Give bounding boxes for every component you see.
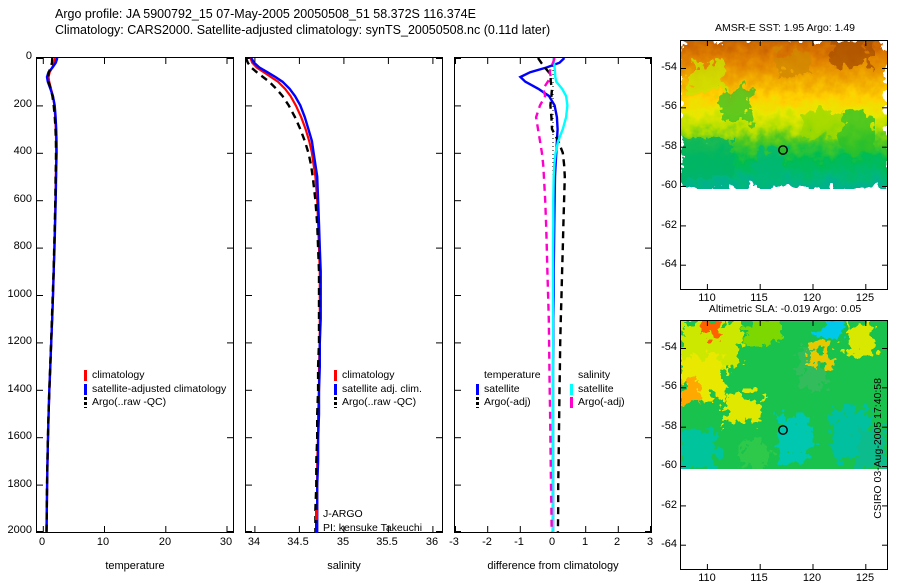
salinity-plot-area bbox=[246, 58, 442, 532]
legend-header-temperature: temperature bbox=[476, 369, 541, 383]
figure-title: Argo profile: JA 5900792_15 07-May-2005 … bbox=[55, 6, 675, 38]
difference-plot-area bbox=[455, 58, 651, 532]
difference-legend-temperature: temperature satellite Argo(-adj) bbox=[476, 369, 541, 410]
temperature-panel bbox=[36, 57, 234, 533]
sst-map-field bbox=[681, 41, 887, 189]
legend-label-climatology: climatology bbox=[92, 369, 145, 383]
legend-swatch-sal-argo bbox=[570, 397, 573, 408]
sst-map-title: AMSR-E SST: 1.95 Argo: 1.49 bbox=[670, 22, 900, 34]
temp-ytick-2000: 2000 bbox=[0, 524, 32, 536]
legend-item-temp-argo: Argo(-adj) bbox=[476, 396, 541, 410]
sla-ytick--54: -54 bbox=[631, 341, 677, 353]
pi-label: PI: kensuke Takeuchi bbox=[323, 522, 422, 536]
legend-label-argo-sal: Argo(..raw -QC) bbox=[342, 396, 416, 410]
salinity-yticks bbox=[246, 59, 442, 532]
salinity-axis-label: salinity bbox=[284, 560, 404, 572]
temp-ytick-0: 0 bbox=[0, 50, 32, 62]
temperature-legend: climatology satellite-adjusted climatolo… bbox=[84, 369, 226, 410]
temp-ytick-1000: 1000 bbox=[0, 288, 32, 300]
sla-xtick-110: 110 bbox=[677, 572, 737, 584]
legend-spacer-sal bbox=[570, 370, 573, 381]
temp-xtick-10: 10 bbox=[73, 536, 133, 548]
legend-swatch-sal-satellite bbox=[570, 384, 573, 395]
temp-ytick-1400: 1400 bbox=[0, 383, 32, 395]
legend-label-temp-satellite: satellite bbox=[484, 383, 520, 397]
temp-ytick-800: 800 bbox=[0, 240, 32, 252]
legend-header-salinity: salinity bbox=[570, 369, 625, 383]
jargo-swatch-blue bbox=[315, 523, 318, 533]
legend-item-sal-satellite: satellite bbox=[570, 383, 625, 397]
sla-map-title: Altimetric SLA: -0.019 Argo: 0.05 bbox=[670, 303, 900, 315]
figure-title-line1: Argo profile: JA 5900792_15 07-May-2005 … bbox=[55, 7, 476, 21]
figure-title-line2: Climatology: CARS2000. Satellite-adjuste… bbox=[55, 23, 550, 37]
sla-xtick-125: 125 bbox=[835, 572, 895, 584]
legend-label-salinity-header: salinity bbox=[578, 369, 610, 383]
jargo-swatch-red bbox=[315, 510, 318, 520]
temperature-plot-area bbox=[37, 58, 233, 532]
sla-ytick--62: -62 bbox=[631, 499, 677, 511]
sst-ytick--62: -62 bbox=[631, 219, 677, 231]
sla-ytick--58: -58 bbox=[631, 420, 677, 432]
temperature-axis-label: temperature bbox=[75, 560, 195, 572]
legend-swatch-temp-argo bbox=[476, 397, 479, 408]
temp-xtick-0: 0 bbox=[12, 536, 72, 548]
legend-label-temp-argo: Argo(-adj) bbox=[484, 396, 531, 410]
legend-label-satellite-adj-sal: satellite adj. clim. bbox=[342, 383, 422, 397]
salinity-panel bbox=[245, 57, 443, 533]
temp-ytick-200: 200 bbox=[0, 98, 32, 110]
legend-label-argo: Argo(..raw -QC) bbox=[92, 396, 166, 410]
sst-map-nodata-region bbox=[681, 189, 887, 289]
temp-ytick-1200: 1200 bbox=[0, 335, 32, 347]
sla-map-plot-area bbox=[681, 321, 887, 569]
legend-item-sal-argo: Argo(-adj) bbox=[570, 396, 625, 410]
legend-label-sal-satellite: satellite bbox=[578, 383, 614, 397]
sst-ytick--60: -60 bbox=[631, 179, 677, 191]
sst-map-plot-area bbox=[681, 41, 887, 289]
legend-swatch-argo bbox=[84, 397, 87, 408]
sla-ytick--56: -56 bbox=[631, 380, 677, 392]
sla-map-panel bbox=[680, 320, 888, 570]
sla-ytick--64: -64 bbox=[631, 538, 677, 550]
temp-ytick-1800: 1800 bbox=[0, 478, 32, 490]
sla-ytick--60: -60 bbox=[631, 459, 677, 471]
salinity-legend: climatology satellite adj. clim. Argo(..… bbox=[334, 369, 422, 410]
legend-swatch-temp-satellite bbox=[476, 384, 479, 395]
sst-map-panel bbox=[680, 40, 888, 290]
legend-swatch-satellite-adjusted bbox=[84, 384, 87, 395]
series-sal-satellite-diff bbox=[553, 58, 567, 532]
salinity-xticks bbox=[255, 58, 433, 532]
jargo-credit: J-ARGO PI: kensuke Takeuchi bbox=[315, 508, 422, 535]
argo-position-marker bbox=[779, 146, 787, 154]
difference-axis-label: difference from climatology bbox=[478, 560, 628, 572]
sla-map-nodata-region bbox=[681, 469, 887, 569]
temp-xtick-20: 20 bbox=[135, 536, 195, 548]
sst-ytick--64: -64 bbox=[631, 258, 677, 270]
legend-item-climatology: climatology bbox=[84, 369, 226, 383]
jargo-label: J-ARGO bbox=[323, 508, 363, 522]
legend-label-climatology-sal: climatology bbox=[342, 369, 395, 383]
temp-ytick-400: 400 bbox=[0, 145, 32, 157]
pi-row: PI: kensuke Takeuchi bbox=[315, 522, 422, 536]
legend-label-sal-argo: Argo(-adj) bbox=[578, 396, 625, 410]
sla-xtick-115: 115 bbox=[729, 572, 789, 584]
legend-swatch-satellite-adj-sal bbox=[334, 384, 337, 395]
jargo-row: J-ARGO bbox=[315, 508, 422, 522]
sst-ytick--58: -58 bbox=[631, 140, 677, 152]
sst-ytick--54: -54 bbox=[631, 61, 677, 73]
temperature-yticks bbox=[37, 59, 233, 532]
legend-label-satellite-adjusted: satellite-adjusted climatology bbox=[92, 383, 226, 397]
argo-profile-figure: Argo profile: JA 5900792_15 07-May-2005 … bbox=[0, 0, 900, 580]
legend-item-satellite-adjusted: satellite-adjusted climatology bbox=[84, 383, 226, 397]
csiro-timestamp: CSIRO 03-Aug-2005 17:40:58 bbox=[872, 378, 884, 519]
legend-item-argo: Argo(..raw -QC) bbox=[84, 396, 226, 410]
legend-item-climatology-sal: climatology bbox=[334, 369, 422, 383]
sla-map-field bbox=[681, 321, 887, 469]
legend-swatch-climatology bbox=[84, 370, 87, 381]
sla-xtick-120: 120 bbox=[782, 572, 842, 584]
legend-swatch-climatology-sal bbox=[334, 370, 337, 381]
difference-panel bbox=[454, 57, 652, 533]
legend-item-satellite-adj-sal: satellite adj. clim. bbox=[334, 383, 422, 397]
temp-ytick-1600: 1600 bbox=[0, 430, 32, 442]
legend-item-temp-satellite: satellite bbox=[476, 383, 541, 397]
sst-ytick--56: -56 bbox=[631, 100, 677, 112]
difference-legend-salinity: salinity satellite Argo(-adj) bbox=[570, 369, 625, 410]
legend-swatch-argo-sal bbox=[334, 397, 337, 408]
legend-item-argo-sal: Argo(..raw -QC) bbox=[334, 396, 422, 410]
temp-ytick-600: 600 bbox=[0, 193, 32, 205]
legend-label-temperature-header: temperature bbox=[484, 369, 541, 383]
series-satellite-adjusted-salinity bbox=[251, 58, 320, 532]
temperature-xticks bbox=[43, 58, 227, 532]
legend-spacer-temp bbox=[476, 370, 479, 381]
